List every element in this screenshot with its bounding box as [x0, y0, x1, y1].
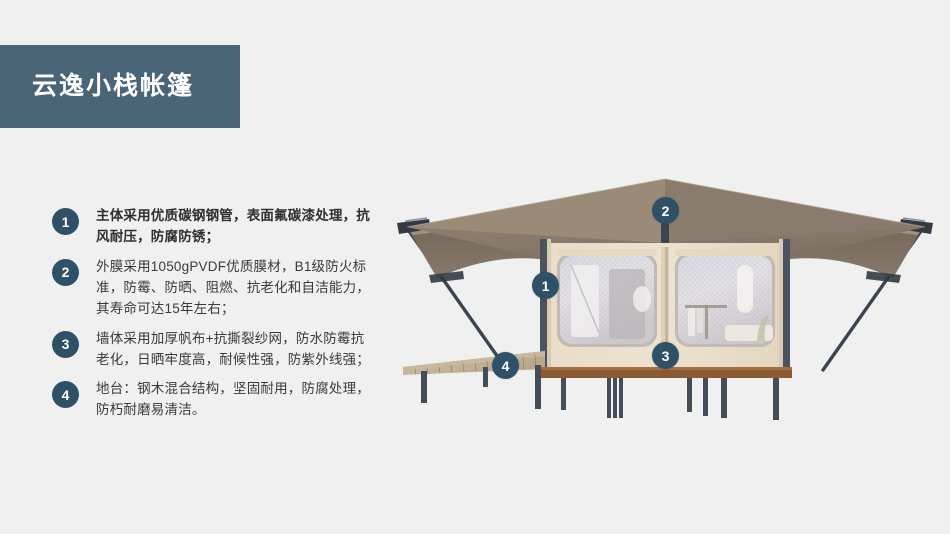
feature-item-4: 4 地台：钢木混合结构，坚固耐用，防腐处理，防朽耐磨易清洁。 — [52, 379, 372, 421]
feature-text-4: 地台：钢木混合结构，坚固耐用，防腐处理，防朽耐磨易清洁。 — [96, 379, 372, 421]
callout-badge-2[interactable]: 2 — [652, 197, 679, 224]
feature-badge-4: 4 — [52, 381, 79, 408]
callout-badge-1[interactable]: 1 — [532, 272, 559, 299]
slide-canvas: 云逸小栈帐篷 1 主体采用优质碳钢钢管，表面氟碳漆处理，抗风耐压，防腐防锈； 2… — [0, 0, 950, 534]
feature-badge-3: 3 — [52, 331, 79, 358]
feature-text-3: 墙体采用加厚帆布+抗撕裂纱网，防水防霉抗老化，日晒牢度高，耐候性强，防紫外线强； — [96, 329, 372, 371]
roof-peak-fitting — [661, 223, 669, 245]
page-title: 云逸小栈帐篷 — [32, 74, 194, 99]
feature-badge-1: 1 — [52, 208, 79, 235]
feature-item-3: 3 墙体采用加厚帆布+抗撕裂纱网，防水防霉抗老化，日晒牢度高，耐候性强，防紫外线… — [52, 329, 372, 371]
window-left — [557, 249, 657, 347]
title-banner: 云逸小栈帐篷 — [0, 45, 240, 128]
feature-text-1: 主体采用优质碳钢钢管，表面氟碳漆处理，抗风耐压，防腐防锈； — [96, 206, 372, 248]
feature-badge-2: 2 — [52, 259, 79, 286]
feature-item-2: 2 外膜采用1050gPVDF优质膜材，B1级防火标准，防霉、防晒、阻燃、抗老化… — [52, 257, 372, 320]
feature-item-1: 1 主体采用优质碳钢钢管，表面氟碳漆处理，抗风耐压，防腐防锈； — [52, 206, 372, 248]
feature-text-2: 外膜采用1050gPVDF优质膜材，B1级防火标准，防霉、防晒、阻燃、抗老化和自… — [96, 257, 372, 320]
feature-list: 1 主体采用优质碳钢钢管，表面氟碳漆处理，抗风耐压，防腐防锈； 2 外膜采用10… — [52, 206, 372, 430]
callout-badge-3[interactable]: 3 — [652, 342, 679, 369]
window-right — [675, 249, 775, 347]
callout-badge-4[interactable]: 4 — [492, 352, 519, 379]
